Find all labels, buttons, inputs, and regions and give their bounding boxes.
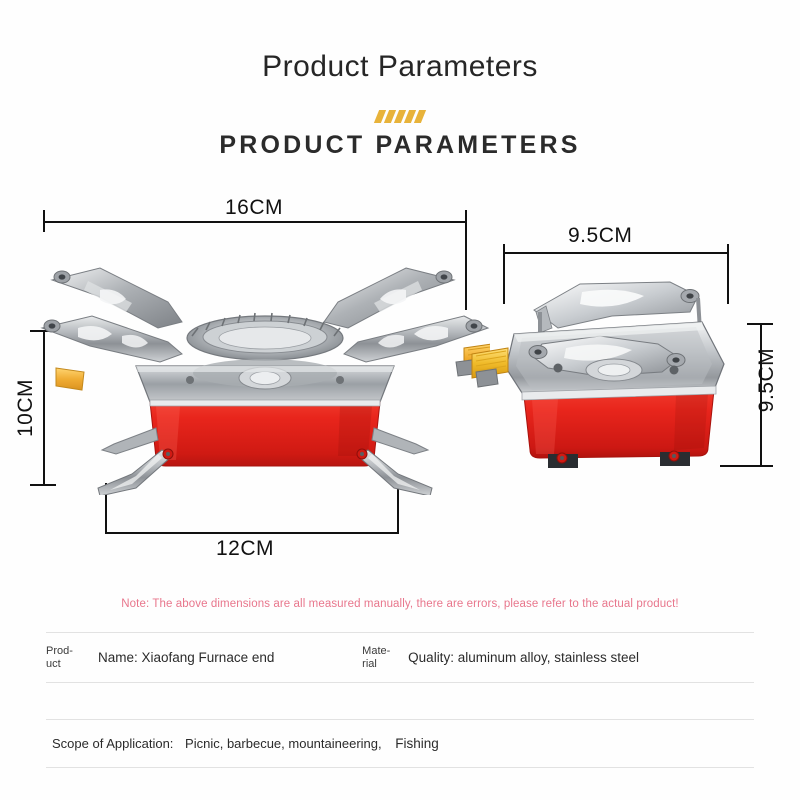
spec-table: Prod- uct Name: Xiaofang Furnace end Mat… [46,632,754,768]
spec-key-scope: Scope of Application: [46,736,173,751]
spec-key-product-line2: uct [46,658,61,670]
dimension-line-95cm-width [503,252,728,254]
product-image-stove-unfolded [40,250,490,495]
stove-red-body-folded [522,386,716,458]
page-subtitle: PRODUCT PARAMETERS [0,131,800,160]
stove-top-plate [136,359,394,402]
dimension-line-16cm [43,221,466,223]
table-row-product: Prod- uct Name: Xiaofang Furnace end Mat… [46,633,754,683]
dimension-label-95cm-height: 9.5CM [755,344,779,416]
table-cell-scope: Scope of Application: Picnic, barbecue, … [46,720,754,768]
dimension-tick-16cm-left [43,210,45,232]
spec-value-scope-extra: Fishing [395,736,439,751]
spec-key-product-line1: Prod- [46,645,73,657]
gas-valve-knob-left [56,368,84,390]
pot-support-arm-rear-right [324,268,454,328]
stripe-5 [414,110,426,123]
table-cell-blank [46,683,754,720]
burner-ring [187,313,343,360]
table-row-blank [46,683,754,720]
folding-leg-rear-right [372,428,428,454]
spec-key-material-line2: rial [362,658,377,670]
spec-key-product: Prod- uct [46,633,98,683]
spec-value-scope: Picnic, barbecue, mountaineering, [185,736,382,751]
table-row-scope: Scope of Application: Picnic, barbecue, … [46,720,754,768]
dimension-label-12cm: 12CM [216,537,274,561]
dimension-label-95cm-width: 9.5CM [568,224,632,248]
pot-support-arm-rear-left [52,268,182,328]
stove-top-plate-folded [506,322,724,396]
folding-leg-rear-left [102,428,158,454]
product-image-stove-folded [462,272,737,477]
decorative-stripes [377,110,424,123]
folding-leg-front-left [98,449,173,495]
dimension-line-12cm [105,532,399,534]
product-parameters-page: Product Parameters PRODUCT PARAMETERS 16… [0,0,800,800]
measurement-note: Note: The above dimensions are all measu… [0,598,800,610]
spec-key-material: Mate- rial [362,633,408,683]
folding-leg-front-right [357,449,432,495]
dimension-label-10cm: 10CM [14,378,38,438]
dimension-line-95cm-height [760,323,762,465]
spec-key-material-line1: Mate- [362,645,390,657]
spec-value-product-name: Name: Xiaofang Furnace end [98,633,362,683]
gas-valve-knob-folded [472,348,508,387]
stove-red-body [150,400,380,466]
page-title: Product Parameters [0,50,800,84]
spec-value-material-quality: Quality: aluminum alloy, stainless steel [408,633,754,683]
dimension-label-16cm: 16CM [225,196,283,220]
dimension-tick-95cm-height-top [747,323,773,325]
